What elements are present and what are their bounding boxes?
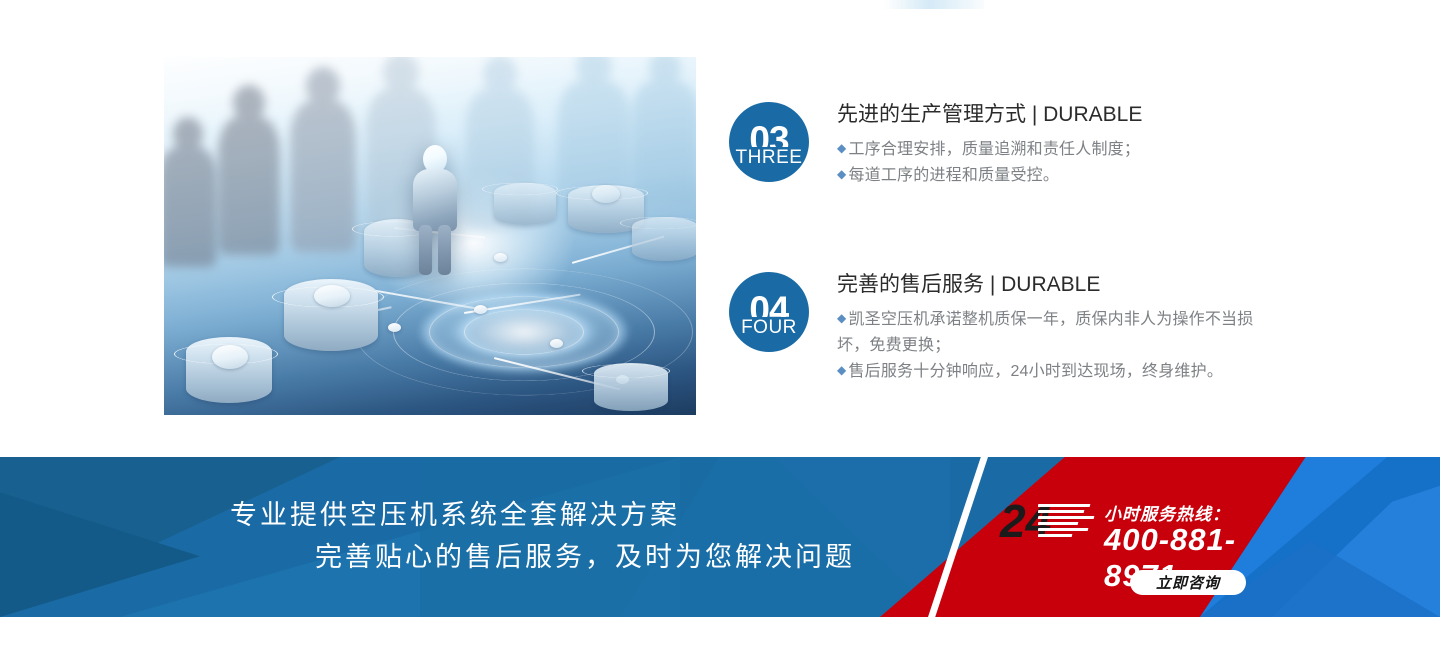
page-root: 03 THREE 先进的生产管理方式 | DURABLE ◆工序合理安排，质量追… <box>0 0 1440 663</box>
badge-word: THREE <box>736 148 803 167</box>
feature-list-04: ◆凯圣空压机承诺整机质保一年，质保内非人为操作不当损坏，免费更换； ◆售后服务十… <box>837 307 1257 385</box>
feature-text-03: 先进的生产管理方式 | DURABLE ◆工序合理安排，质量追溯和责任人制度； … <box>837 102 1142 189</box>
diamond-bullet-icon: ◆ <box>837 363 846 377</box>
link-node-dot <box>388 323 401 332</box>
central-person-figure <box>412 145 458 275</box>
figure-leg-right <box>438 225 451 275</box>
network-people-illustration <box>164 57 696 415</box>
feature-list-item: ◆工序合理安排，质量追溯和责任人制度； <box>837 137 1142 163</box>
feature-badge-03: 03 THREE <box>729 102 809 182</box>
diamond-bullet-icon: ◆ <box>837 141 846 155</box>
feature-list-item: ◆凯圣空压机承诺整机质保一年，质保内非人为操作不当损坏，免费更换； <box>837 307 1257 359</box>
link-node-dot <box>550 339 563 348</box>
crowd-figure <box>216 85 282 255</box>
banner-headline-group: 专业提供空压机系统全套解决方案 完善贴心的售后服务，及时为您解决问题 <box>0 457 930 617</box>
feature-block-03: 03 THREE 先进的生产管理方式 | DURABLE ◆工序合理安排，质量追… <box>729 102 1289 189</box>
badge-number: 03 <box>749 121 788 147</box>
feature-title: 先进的生产管理方式 | DURABLE <box>837 102 1142 128</box>
badge-word: FOUR <box>741 318 797 337</box>
badge-number: 04 <box>749 291 788 317</box>
feature-badge-04: 04 FOUR <box>729 272 809 352</box>
feature-list-item: ◆每道工序的进程和质量受控。 <box>837 163 1142 189</box>
feature-block-04: 04 FOUR 完善的售后服务 | DURABLE ◆凯圣空压机承诺整机质保一年… <box>729 272 1289 385</box>
diamond-bullet-icon: ◆ <box>837 311 846 325</box>
top-gradient-remnant <box>884 0 984 9</box>
feature-list-text: 售后服务十分钟响应，24小时到达现场，终身维护。 <box>848 363 1223 380</box>
hotline-block: 24 小时服务热线： 400-881-8971 立即咨询 <box>1000 492 1300 612</box>
feature-title: 完善的售后服务 | DURABLE <box>837 272 1257 298</box>
feature-list-text: 每道工序的进程和质量受控。 <box>848 167 1059 184</box>
network-node <box>494 173 556 231</box>
link-node-dot <box>494 253 507 262</box>
feature-text-04: 完善的售后服务 | DURABLE ◆凯圣空压机承诺整机质保一年，质保内非人为操… <box>837 272 1257 385</box>
link-node-dot <box>474 305 487 314</box>
consult-now-button[interactable]: 立即咨询 <box>1130 570 1246 595</box>
network-node <box>632 207 696 263</box>
banner-headline-1: 专业提供空压机系统全套解决方案 <box>0 495 930 537</box>
figure-leg-left <box>419 225 432 275</box>
crowd-figure <box>164 117 218 267</box>
hotline-speed-streaks-icon <box>1038 502 1096 542</box>
feature-list-text: 凯圣空压机承诺整机质保一年，质保内非人为操作不当损坏，免费更换； <box>837 311 1253 354</box>
network-node <box>186 327 272 411</box>
feature-list-03: ◆工序合理安排，质量追溯和责任人制度； ◆每道工序的进程和质量受控。 <box>837 137 1142 189</box>
feature-list-item: ◆售后服务十分钟响应，24小时到达现场，终身维护。 <box>837 359 1257 385</box>
feature-list-text: 工序合理安排，质量追溯和责任人制度； <box>848 141 1140 158</box>
banner-headline-2: 完善贴心的售后服务，及时为您解决问题 <box>0 537 930 579</box>
figure-body <box>413 169 457 231</box>
network-node <box>594 353 668 415</box>
diamond-bullet-icon: ◆ <box>837 167 846 181</box>
